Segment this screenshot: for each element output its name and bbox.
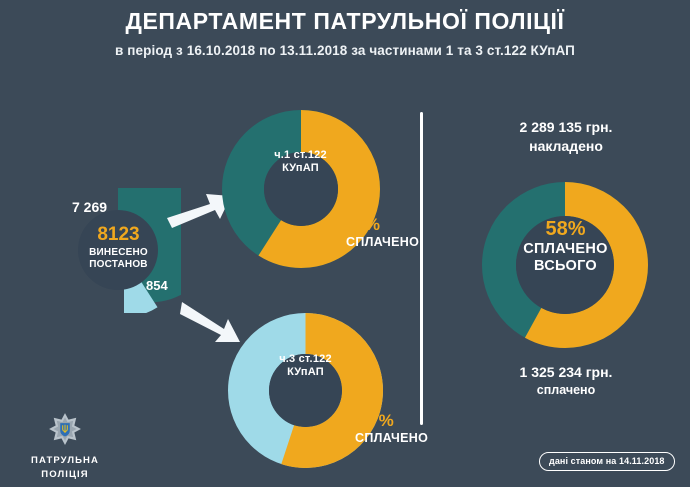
donut-bottom-legend: 55 % СПЛАЧЕНО	[355, 412, 428, 445]
right-donut-paid-caption: сплачено	[452, 382, 680, 399]
donut-bottom-percent: 55 %	[355, 412, 428, 431]
data-date-badge: дані станом на 14.11.2018	[539, 452, 675, 471]
right-donut-total-paid: 1 325 234 грн.	[452, 363, 680, 382]
police-star-badge-icon	[48, 412, 82, 446]
police-logo-line2: ПОЛІЦІЯ	[10, 468, 120, 482]
donut-chart-total	[481, 181, 649, 349]
vertical-divider	[420, 112, 423, 425]
police-logo-line1: ПАТРУЛЬНА	[10, 454, 120, 468]
page-subtitle: в період з 16.10.2018 по 13.11.2018 за ч…	[0, 43, 690, 58]
donut-bottom-percent-caption: СПЛАЧЕНО	[355, 431, 428, 445]
page-title: ДЕПАРТАМЕНТ ПАТРУЛЬНОЇ ПОЛІЦІЇ	[0, 8, 690, 34]
donut-top-percent-caption: СПЛАЧЕНО	[346, 235, 419, 249]
police-logo-text: ПАТРУЛЬНА ПОЛІЦІЯ	[10, 454, 120, 482]
donut-top-percent: 59%	[346, 216, 419, 235]
donut-top-legend: 59% СПЛАЧЕНО	[346, 216, 419, 249]
donut-chart-part3	[228, 313, 383, 468]
right-donut-imposed-caption: накладено	[452, 137, 680, 156]
right-donut-top-label: 2 289 135 грн. накладено	[452, 118, 680, 156]
header: ДЕПАРТАМЕНТ ПАТРУЛЬНОЇ ПОЛІЦІЇ в період …	[0, 8, 690, 58]
left-pie-label-854: 854	[146, 278, 168, 293]
right-donut-total-imposed: 2 289 135 грн.	[452, 118, 680, 137]
right-donut-bottom-label: 1 325 234 грн. сплачено	[452, 363, 680, 399]
police-logo: ПАТРУЛЬНА ПОЛІЦІЯ	[10, 412, 120, 482]
left-pie-label-7269: 7 269	[72, 199, 107, 215]
